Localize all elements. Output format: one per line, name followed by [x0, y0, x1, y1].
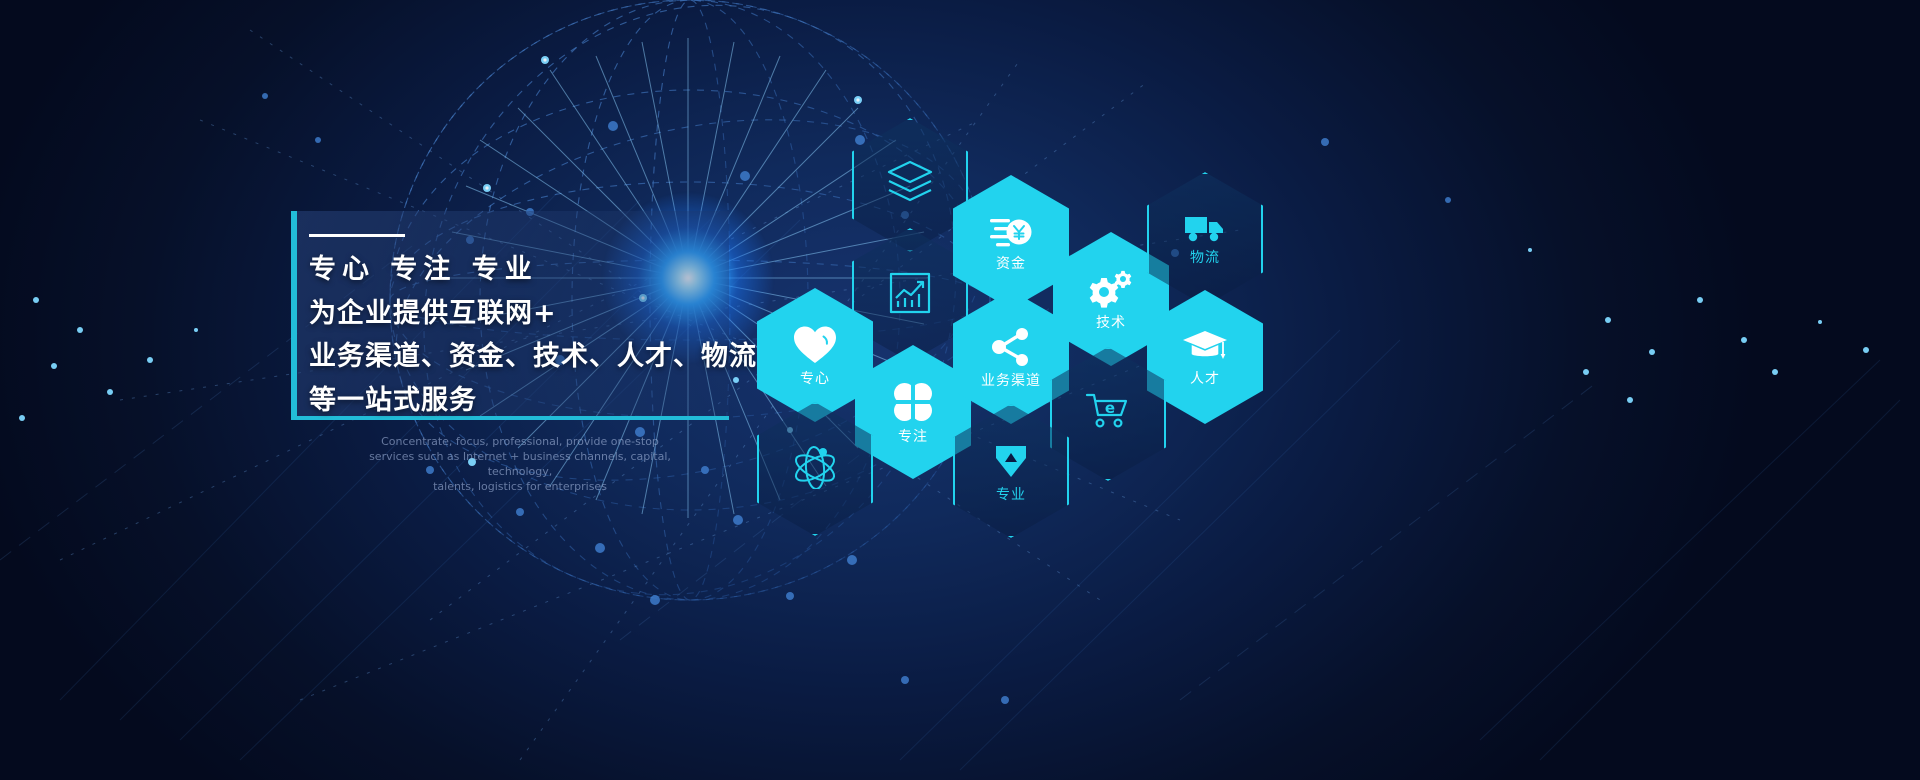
hexagon-label: 物流 — [1190, 251, 1220, 265]
headline-line-3: 业务渠道、资金、技术、人才、物流 — [309, 334, 757, 373]
ecommerce-cart-icon: e — [1085, 391, 1131, 431]
headline-line-4: 等一站式服务 — [309, 378, 477, 417]
graduation-cap-icon — [1182, 328, 1228, 366]
hexagon-label: 专注 — [898, 430, 928, 444]
hexagon-label: 资金 — [996, 257, 1026, 271]
headline-rule — [309, 234, 405, 237]
banner-stage: 专心 专注 专业 为企业提供互联网+ 业务渠道、资金、技术、人才、物流 等一站式… — [0, 0, 1920, 780]
hexagon-label: 专心 — [800, 372, 830, 386]
svg-text:e: e — [1105, 399, 1115, 417]
diamond-icon — [990, 440, 1032, 482]
subtitle-text: Concentrate, focus, professional, provid… — [340, 434, 700, 494]
hexagon-label: 业务渠道 — [981, 374, 1041, 388]
hexagon-label: 人才 — [1190, 372, 1220, 386]
money-yen-icon — [988, 213, 1034, 251]
hexagon-label: 专业 — [996, 488, 1026, 502]
gears-icon — [1087, 268, 1135, 310]
hexagon-capital[interactable]: 资金 — [953, 175, 1069, 309]
headline-line-2: 为企业提供互联网+ — [309, 291, 557, 330]
headline-line-1: 专心 专注 专业 — [309, 247, 538, 286]
chart-growth-icon — [887, 268, 933, 316]
atom-icon — [790, 443, 840, 489]
hexagon-label: 技术 — [1096, 316, 1126, 330]
share-nodes-icon — [989, 326, 1033, 368]
layers-icon — [885, 159, 935, 205]
clover-icon — [891, 380, 935, 424]
truck-icon — [1183, 213, 1227, 245]
heart-icon — [792, 324, 838, 366]
